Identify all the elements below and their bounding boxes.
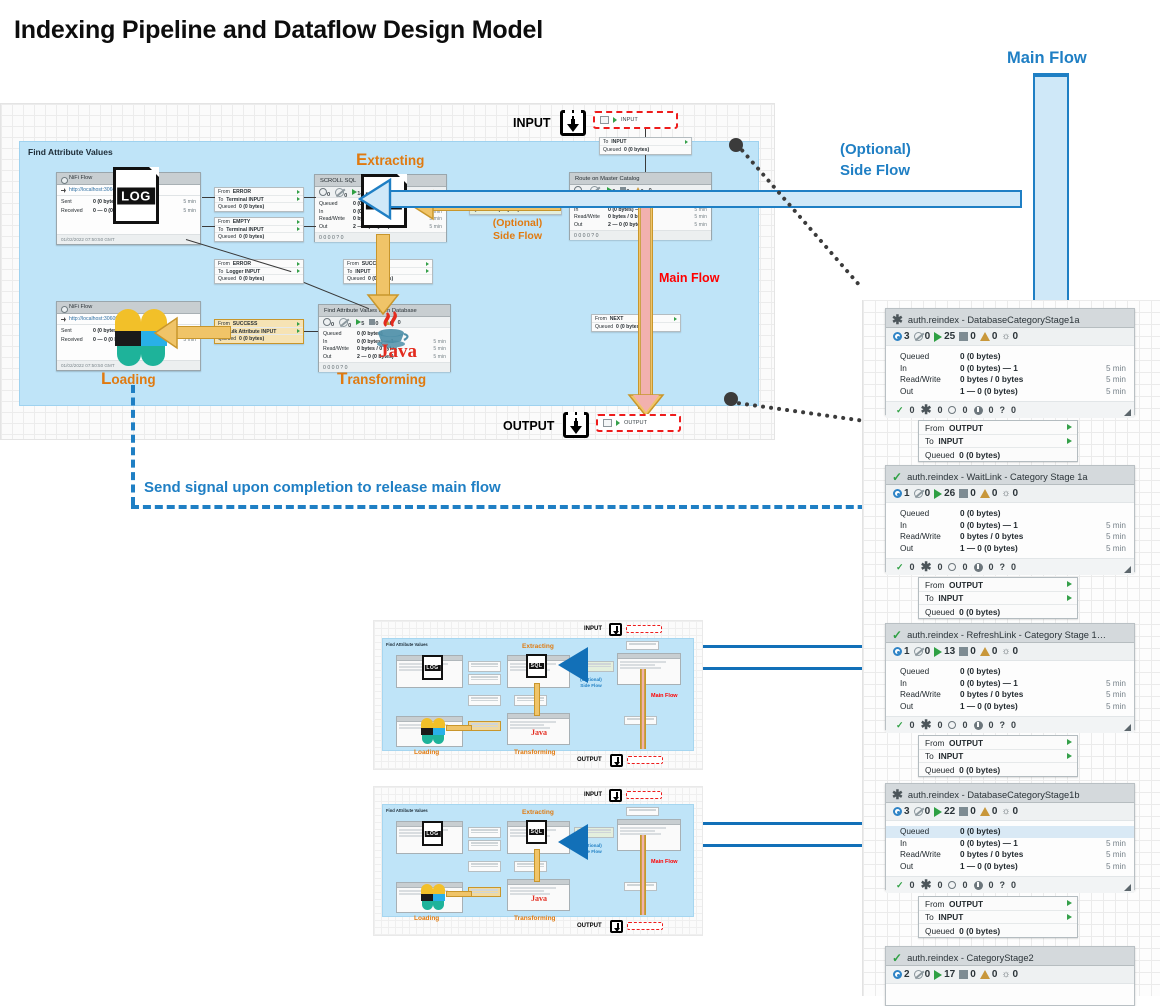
thumb-input-port[interactable] bbox=[626, 791, 662, 799]
conn-from: From ERROR bbox=[215, 188, 303, 196]
stat-stopped: 0 bbox=[959, 806, 976, 817]
stop-icon bbox=[959, 332, 968, 341]
thumb-transform-band bbox=[534, 683, 540, 716]
group-stats: 1 0 26 0 0 ☼0 bbox=[886, 485, 1134, 503]
thumb-output-port[interactable] bbox=[627, 756, 663, 764]
warning-icon bbox=[980, 807, 990, 816]
stage-label-transforming: Transforming bbox=[337, 369, 426, 389]
thumb-box-route bbox=[617, 819, 681, 851]
thumb-pie-icon bbox=[419, 718, 446, 745]
connector-line bbox=[304, 226, 316, 227]
conn-queued: Queued 0 (0 bytes) bbox=[215, 203, 303, 211]
thumb-loading-band bbox=[446, 725, 472, 731]
group-row: In0 (0 bytes) — 15 min bbox=[886, 363, 1134, 375]
stat-invalid: 0 bbox=[980, 969, 998, 980]
stat-running: 25 bbox=[934, 331, 955, 342]
info-icon bbox=[974, 881, 983, 890]
thumb-sql-icon: SQL bbox=[526, 820, 547, 844]
thumb-box-route bbox=[617, 653, 681, 685]
signal-note-label: Send signal upon completion to release m… bbox=[144, 479, 501, 496]
process-group-databasecategorystage1a[interactable]: ✱ auth.reindex - DatabaseCategoryStage1a… bbox=[885, 308, 1135, 415]
conn-from: From OUTPUT bbox=[919, 421, 1077, 435]
thumb-mainflow-red bbox=[641, 669, 645, 749]
processor-name: Route on Master Catalog bbox=[570, 173, 711, 185]
group-rows: Queued0 (0 bytes) In0 (0 bytes) — 15 min… bbox=[886, 346, 1134, 401]
conn-from: From OUTPUT bbox=[919, 897, 1077, 911]
question-icon: ? bbox=[1000, 405, 1006, 415]
row-key: Received bbox=[61, 208, 93, 215]
thumb-conn bbox=[468, 661, 501, 672]
java-label: Java bbox=[379, 341, 417, 363]
thumb-loading-band bbox=[446, 891, 472, 897]
conn-to: To Terminal INPUT bbox=[215, 226, 303, 234]
thumb-conn bbox=[468, 721, 501, 731]
asterisk-icon: ✱ bbox=[921, 404, 932, 416]
side-flow-blue-line2: Side Flow bbox=[840, 162, 910, 179]
thumb-conn bbox=[626, 807, 659, 816]
conn-queued: Queued 0 (0 bytes) bbox=[919, 924, 1077, 938]
disabled-icon: ☼ bbox=[1001, 489, 1010, 499]
conn-from: From OUTPUT bbox=[919, 578, 1077, 592]
group-row: In0 (0 bytes) — 15 min bbox=[886, 520, 1134, 532]
group-name: auth.reindex - CategoryStage2 bbox=[907, 953, 1034, 963]
warning-icon bbox=[980, 970, 990, 979]
thumb-output-icon bbox=[610, 920, 623, 933]
thumb-output-port[interactable] bbox=[627, 922, 663, 930]
output-port[interactable]: OUTPUT bbox=[596, 414, 681, 432]
disabled-icon: ☼ bbox=[1001, 332, 1010, 342]
signal-dashed-vertical bbox=[131, 385, 135, 505]
conn-to: To INPUT bbox=[919, 750, 1077, 764]
process-group-refreshlink-category-stage1[interactable]: ✓ auth.reindex - RefreshLink - Category … bbox=[885, 623, 1135, 730]
thumb-conn bbox=[626, 641, 659, 650]
group-footer: ✓0 ✱0 0 0 ?0 bbox=[886, 716, 1134, 733]
connection-error-terminal[interactable]: From ERROR To Terminal INPUT Queued 0 (0… bbox=[214, 187, 304, 212]
group-row: Read/Write0 bytes / 0 bytes5 min bbox=[886, 531, 1134, 543]
connector-line bbox=[202, 226, 215, 227]
thumb-process-group-title: Find Attribute Values bbox=[386, 642, 428, 647]
thumb-conn bbox=[468, 674, 501, 685]
output-port-icon bbox=[563, 412, 589, 438]
thumbnail-diagram-1[interactable]: Find Attribute Values LOG SQL Java bbox=[373, 620, 703, 770]
port-icon bbox=[603, 419, 612, 427]
info-icon bbox=[974, 721, 983, 730]
circle-outline-icon bbox=[948, 721, 956, 729]
group-rows: Queued0 (0 bytes) In0 (0 bytes) — 15 min… bbox=[886, 661, 1134, 716]
not-transmitting-icon bbox=[914, 489, 923, 498]
group-header: ✱ auth.reindex - DatabaseCategoryStage1b bbox=[886, 784, 1134, 803]
connector-line bbox=[304, 197, 316, 198]
group-name: auth.reindex - RefreshLink - Category St… bbox=[907, 630, 1106, 640]
group-row: Queued0 (0 bytes) bbox=[886, 351, 1134, 363]
thumb-label-mainflow: Main Flow bbox=[651, 693, 678, 699]
screenshot-root: Indexing Pipeline and Dataflow Design Mo… bbox=[0, 0, 1160, 996]
circle-outline-icon bbox=[948, 881, 956, 889]
thumb-label-loading: Loading bbox=[414, 749, 439, 756]
thumb-log-icon: LOG bbox=[422, 655, 443, 680]
connector-line bbox=[304, 331, 318, 332]
output-port-label: OUTPUT bbox=[624, 420, 647, 426]
thumb-input-port[interactable] bbox=[626, 625, 662, 633]
input-port-icon bbox=[560, 110, 586, 136]
thumb-process-group-title: Find Attribute Values bbox=[386, 808, 428, 813]
question-icon: ? bbox=[1000, 562, 1006, 572]
stat-disabled: ☼0 bbox=[1001, 806, 1018, 817]
asterisk-icon: ✱ bbox=[892, 789, 903, 801]
asterisk-icon: ✱ bbox=[921, 719, 932, 731]
main-flow-band-red bbox=[640, 204, 651, 409]
group-stats: 2 0 17 0 0 ☼0 bbox=[886, 966, 1134, 984]
stat-stopped: 0 bbox=[959, 488, 976, 499]
check-icon: ✓ bbox=[896, 405, 904, 416]
stat-not-transmitting: 0 bbox=[914, 646, 931, 657]
warning-icon bbox=[980, 489, 990, 498]
thumb-output-word: OUTPUT bbox=[577, 923, 602, 929]
stat-not-transmitting: 0 bbox=[914, 488, 931, 499]
side-flow-orange-label: (Optional) Side Flow bbox=[465, 217, 570, 243]
group-row: Read/Write0 bytes / 0 bytes5 min bbox=[886, 849, 1134, 861]
check-icon: ✓ bbox=[892, 471, 902, 483]
disabled-icon: ☼ bbox=[1001, 807, 1010, 817]
group-name: auth.reindex - WaitLink - Category Stage… bbox=[907, 472, 1088, 482]
conn-from: From EMPTY bbox=[215, 218, 303, 226]
log-glyph-text: LOG bbox=[117, 187, 155, 204]
group-connection-4[interactable]: From OUTPUT To INPUT Queued 0 (0 bytes) bbox=[918, 896, 1078, 938]
input-word: INPUT bbox=[513, 116, 551, 130]
stat-running: 22 bbox=[934, 806, 955, 817]
stop-icon bbox=[959, 647, 968, 656]
thumbnail2-sideflow-arrow bbox=[556, 822, 590, 862]
group-name: auth.reindex - DatabaseCategoryStage1b bbox=[908, 790, 1080, 800]
not-transmitting-icon bbox=[914, 970, 923, 979]
thumb-conn bbox=[468, 840, 501, 851]
conn-to: To INPUT bbox=[600, 138, 691, 146]
stage-cap: L bbox=[101, 369, 111, 388]
connection-empty-terminal[interactable]: From EMPTY To Terminal INPUT Queued 0 (0… bbox=[214, 217, 304, 242]
play-icon bbox=[934, 489, 942, 499]
check-icon: ✓ bbox=[892, 629, 902, 641]
thumb-java-label: Java bbox=[531, 894, 547, 903]
port-icon bbox=[600, 116, 609, 124]
stat-transmitting: 3 bbox=[893, 806, 910, 817]
group-header: ✓ auth.reindex - CategoryStage2 bbox=[886, 947, 1134, 966]
stop-icon bbox=[959, 970, 968, 979]
play-icon bbox=[934, 647, 942, 657]
side-flow-blue-bar bbox=[386, 190, 1022, 208]
row-time: 5 min bbox=[174, 199, 196, 206]
asterisk-icon: ✱ bbox=[921, 561, 932, 573]
thumb-input-icon bbox=[609, 623, 622, 636]
check-icon: ✓ bbox=[896, 562, 904, 573]
thumb-conn bbox=[468, 861, 501, 872]
side-flow-blue-line1: (Optional) bbox=[840, 141, 911, 158]
play-icon bbox=[613, 117, 617, 123]
stat-running: 13 bbox=[934, 646, 955, 657]
asterisk-icon: ✱ bbox=[892, 314, 903, 326]
thumb-label-transforming: Transforming bbox=[514, 749, 556, 756]
process-group-title: Find Attribute Values bbox=[28, 147, 113, 157]
connector-line bbox=[202, 197, 215, 198]
group-stats: 3 0 25 0 0 ☼0 bbox=[886, 328, 1134, 346]
conn-to: To Terminal INPUT bbox=[215, 196, 303, 204]
thumb-log-icon: LOG bbox=[422, 821, 443, 846]
thumb-output-word: OUTPUT bbox=[577, 757, 602, 763]
right-nifi-canvas[interactable]: ✱ auth.reindex - DatabaseCategoryStage1a… bbox=[862, 300, 1160, 996]
conn-to: To INPUT bbox=[919, 911, 1077, 925]
page-title: Indexing Pipeline and Dataflow Design Mo… bbox=[14, 16, 543, 45]
conn-queued: Queued 0 (0 bytes) bbox=[600, 146, 691, 154]
question-icon: ? bbox=[1000, 880, 1006, 890]
thumb-sql-icon: SQL bbox=[526, 654, 547, 678]
stat-stopped: 0 bbox=[959, 969, 976, 980]
stat-stopped: 0 bbox=[959, 331, 976, 342]
group-row: In0 (0 bytes) — 15 min bbox=[886, 838, 1134, 850]
thumb-input-icon bbox=[609, 789, 622, 802]
stop-icon bbox=[959, 489, 968, 498]
stat-invalid: 0 bbox=[980, 331, 998, 342]
stat-disabled: ☼0 bbox=[1001, 646, 1018, 657]
thumb-conn bbox=[514, 695, 547, 706]
stage-rest: xtracting bbox=[367, 153, 424, 168]
transmitting-icon bbox=[893, 970, 902, 979]
row-time: 5 min bbox=[174, 208, 196, 215]
transmitting-icon bbox=[893, 647, 902, 656]
info-icon bbox=[974, 406, 983, 415]
connection-port-to-input[interactable]: To INPUT Queued 0 (0 bytes) bbox=[599, 137, 692, 155]
group-footer: ✓0 ✱0 0 0 ?0 bbox=[886, 876, 1134, 893]
group-row: Out1 — 0 (0 bytes)5 min bbox=[886, 701, 1134, 713]
group-name: auth.reindex - DatabaseCategoryStage1a bbox=[908, 315, 1080, 325]
group-row: Out1 — 0 (0 bytes)5 min bbox=[886, 543, 1134, 555]
loading-flow-band bbox=[176, 326, 231, 339]
stat-active-threads: 0 bbox=[319, 188, 330, 198]
stat-disabled: 0 bbox=[339, 318, 351, 329]
transmitting-icon bbox=[893, 332, 902, 341]
stat-invalid: 0 bbox=[980, 806, 998, 817]
thumb-output-icon bbox=[610, 754, 623, 767]
conn-from: From NEXT bbox=[592, 315, 680, 323]
not-transmitting-icon bbox=[914, 332, 923, 341]
check-icon: ✓ bbox=[896, 720, 904, 731]
not-transmitting-icon bbox=[914, 807, 923, 816]
group-stats: 1 0 13 0 0 ☼0 bbox=[886, 643, 1134, 661]
play-icon bbox=[934, 807, 942, 817]
row-key: Received bbox=[61, 337, 93, 344]
side-flow-line2: Side Flow bbox=[493, 230, 542, 242]
group-header: ✱ auth.reindex - DatabaseCategoryStage1a bbox=[886, 309, 1134, 328]
group-connection-1[interactable]: From OUTPUT To INPUT Queued 0 (0 bytes) bbox=[918, 420, 1078, 462]
row-key: Sent bbox=[61, 199, 93, 206]
group-row: Queued0 (0 bytes) bbox=[886, 826, 1134, 838]
stat-not-transmitting: 0 bbox=[914, 969, 931, 980]
thumb-conn bbox=[468, 695, 501, 706]
thumbnail1-sideflow-arrow bbox=[556, 645, 590, 685]
group-stats: 3 0 22 0 0 ☼0 bbox=[886, 803, 1134, 821]
conn-queued: Queued 0 (0 bytes) bbox=[215, 275, 303, 283]
conn-queued: Queued 0 (0 bytes) bbox=[215, 233, 303, 241]
check-icon: ✓ bbox=[896, 880, 904, 891]
thumb-input-word: INPUT bbox=[584, 626, 602, 632]
disabled-icon: ☼ bbox=[1001, 647, 1010, 657]
thumb-conn bbox=[468, 887, 501, 897]
stage-rest: ransforming bbox=[347, 372, 426, 387]
group-row: In0 (0 bytes) — 15 min bbox=[886, 678, 1134, 690]
process-group-waitlink-category-stage1a[interactable]: ✓ auth.reindex - WaitLink - Category Sta… bbox=[885, 465, 1135, 572]
stat-transmitting: 1 bbox=[893, 488, 910, 499]
stop-icon bbox=[959, 807, 968, 816]
dataflow-inner-bar bbox=[1035, 73, 1067, 77]
stat-running: 26 bbox=[934, 488, 955, 499]
stat-active-threads: 0 bbox=[323, 318, 334, 328]
loading-flow-arrowhead bbox=[153, 316, 179, 350]
row-key: Sent bbox=[61, 328, 93, 335]
transform-flow-band bbox=[376, 234, 390, 302]
stat-invalid: 0 bbox=[980, 646, 998, 657]
stat-stopped: 0 bbox=[959, 646, 976, 657]
connector-line bbox=[645, 155, 646, 172]
thumb-label-mainflow: Main Flow bbox=[651, 859, 678, 865]
transmitting-icon bbox=[893, 489, 902, 498]
group-rows: Queued0 (0 bytes) In0 (0 bytes) — 15 min… bbox=[886, 503, 1134, 558]
thumb-conn bbox=[468, 827, 501, 838]
side-flow-blue-arrowhead bbox=[358, 178, 392, 220]
stat-transmitting: 1 bbox=[893, 646, 910, 657]
play-icon bbox=[934, 970, 942, 980]
input-port[interactable]: INPUT bbox=[593, 111, 678, 129]
stat-disabled: ☼0 bbox=[1001, 969, 1018, 980]
process-group-databasecategorystage1b[interactable]: ✱ auth.reindex - DatabaseCategoryStage1b… bbox=[885, 783, 1135, 890]
group-footer: ✓0 ✱0 0 0 ?0 bbox=[886, 558, 1134, 575]
conn-queued: Queued 0 (0 bytes) bbox=[919, 448, 1077, 462]
thumb-java-label: Java bbox=[531, 728, 547, 737]
group-connection-3[interactable]: From OUTPUT To INPUT Queued 0 (0 bytes) bbox=[918, 735, 1078, 777]
check-icon: ✓ bbox=[892, 952, 902, 964]
stat-not-transmitting: 0 bbox=[914, 331, 931, 342]
conn-queued: Queued 0 (0 bytes) bbox=[919, 605, 1077, 619]
question-icon: ? bbox=[1000, 720, 1006, 730]
stage-cap: T bbox=[337, 369, 347, 388]
transform-flow-arrowhead bbox=[366, 294, 400, 316]
stat-transmitting: 3 bbox=[893, 331, 910, 342]
asterisk-icon: ✱ bbox=[921, 879, 932, 891]
thumb-label-transforming: Transforming bbox=[514, 915, 556, 922]
main-nifi-canvas[interactable]: Find Attribute Values NiFi Flow http://l… bbox=[0, 103, 775, 440]
conn-to: To INPUT bbox=[919, 592, 1077, 606]
not-transmitting-icon bbox=[914, 647, 923, 656]
stage-label-extracting: Extracting bbox=[356, 150, 424, 170]
remote-flow-timestamp: 01/02/2022 07:50:50 GMT bbox=[57, 234, 200, 244]
thumb-conn bbox=[514, 861, 547, 872]
group-row: Out1 — 0 (0 bytes)5 min bbox=[886, 386, 1134, 398]
group-connection-2[interactable]: From OUTPUT To INPUT Queued 0 (0 bytes) bbox=[918, 577, 1078, 619]
circle-outline-icon bbox=[948, 563, 956, 571]
thumb-label-extracting: Extracting bbox=[522, 809, 554, 816]
connection-next[interactable]: From NEXT Queued 0 (0 bytes) bbox=[591, 314, 681, 332]
side-flow-line1: (Optional) bbox=[493, 217, 543, 229]
warning-icon bbox=[980, 647, 990, 656]
disabled-icon: ☼ bbox=[1001, 970, 1010, 980]
thumb-input-word: INPUT bbox=[584, 792, 602, 798]
thumb-pie-icon bbox=[419, 884, 446, 911]
conn-queued: Queued 0 (0 bytes) bbox=[592, 323, 680, 331]
thumb-label-extracting: Extracting bbox=[522, 643, 554, 650]
group-header: ✓ auth.reindex - WaitLink - Category Sta… bbox=[886, 466, 1134, 485]
output-word: OUTPUT bbox=[503, 419, 554, 433]
info-icon bbox=[974, 563, 983, 572]
warning-icon bbox=[980, 332, 990, 341]
group-row: Queued0 (0 bytes) bbox=[886, 508, 1134, 520]
group-header: ✓ auth.reindex - RefreshLink - Category … bbox=[886, 624, 1134, 643]
stat-not-transmitting: 0 bbox=[914, 806, 931, 817]
thumb-transform-band bbox=[534, 849, 540, 882]
thumb-label-loading: Loading bbox=[414, 915, 439, 922]
process-group-categorystage2[interactable]: ✓ auth.reindex - CategoryStage2 2 0 17 0… bbox=[885, 946, 1135, 1006]
thumbnail-diagram-2[interactable]: Find Attribute Values LOG SQL Java bbox=[373, 786, 703, 936]
transmitting-icon bbox=[893, 807, 902, 816]
conn-to: To INPUT bbox=[919, 435, 1077, 449]
circle-outline-icon bbox=[948, 406, 956, 414]
play-icon bbox=[934, 332, 942, 342]
conn-from: From OUTPUT bbox=[919, 736, 1077, 750]
main-flow-blue-label: Main Flow bbox=[1007, 49, 1087, 68]
signal-dashed-horizontal bbox=[131, 505, 961, 509]
stat-transmitting: 2 bbox=[893, 969, 910, 980]
thumb-mainflow-red bbox=[641, 835, 645, 915]
group-rows: Queued0 (0 bytes) In0 (0 bytes) — 15 min… bbox=[886, 821, 1134, 876]
stat-invalid: 0 bbox=[980, 488, 998, 499]
stat-running: 5 bbox=[356, 319, 364, 327]
group-row: Queued0 (0 bytes) bbox=[886, 666, 1134, 678]
stat-disabled: 0 bbox=[335, 188, 347, 199]
group-row: Read/Write0 bytes / 0 bytes5 min bbox=[886, 689, 1134, 701]
side-flow-blue-label: (Optional) Side Flow bbox=[840, 139, 911, 181]
play-icon bbox=[616, 420, 620, 426]
log-document-icon: LOG bbox=[113, 167, 159, 224]
stat-disabled: ☼0 bbox=[1001, 331, 1018, 342]
stage-label-loading: Loading bbox=[101, 369, 156, 389]
stat-disabled: ☼0 bbox=[1001, 488, 1018, 499]
stage-cap: E bbox=[356, 150, 367, 169]
conn-queued: Queued 0 (0 bytes) bbox=[919, 763, 1077, 777]
group-row: Out1 — 0 (0 bytes)5 min bbox=[886, 861, 1134, 873]
main-flow-red-label: Main Flow bbox=[659, 271, 719, 285]
group-footer: ✓0 ✱0 0 0 ?0 bbox=[886, 401, 1134, 418]
stat-running: 17 bbox=[934, 969, 955, 980]
input-port-label: INPUT bbox=[621, 117, 638, 123]
group-row: Read/Write0 bytes / 0 bytes5 min bbox=[886, 374, 1134, 386]
